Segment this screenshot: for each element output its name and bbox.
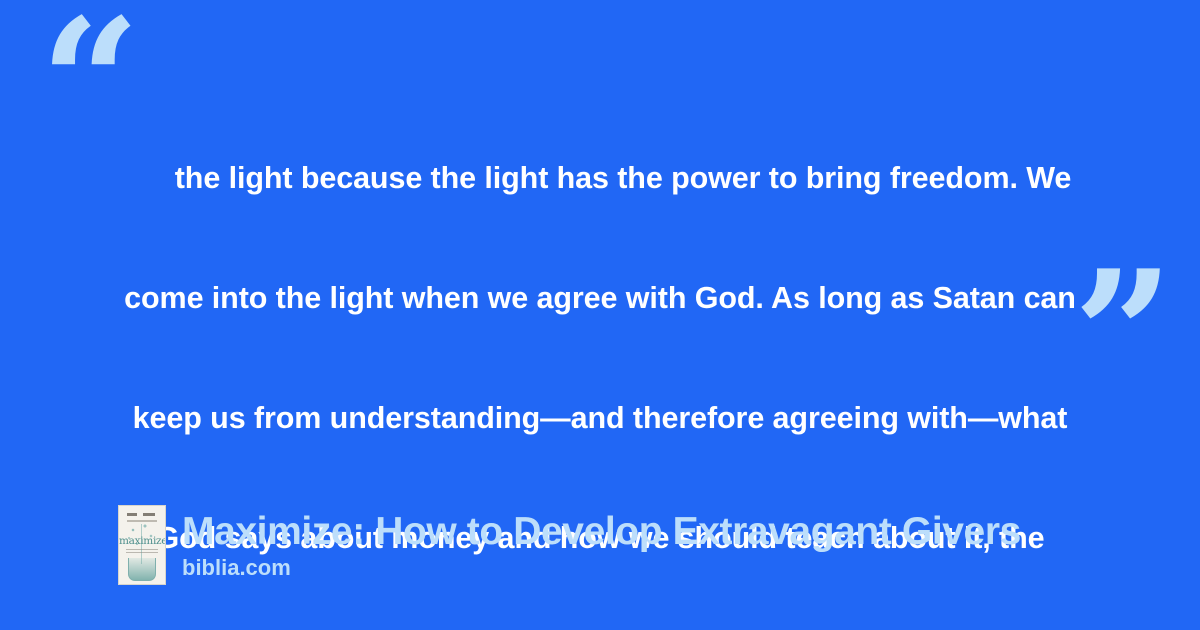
cover-author-line — [125, 513, 159, 516]
attribution-footer: maximize Maximize: How to Develop Extrav… — [118, 505, 1021, 585]
quote-card: “ the light because the light has the po… — [0, 0, 1200, 630]
cover-subtitle-rule — [127, 520, 157, 522]
site-name: biblia.com — [182, 555, 1021, 581]
cover-tagline-lines — [126, 549, 158, 555]
quote-line: keep us from understanding—and therefore… — [96, 398, 1104, 438]
book-cover-thumbnail: maximize — [118, 505, 166, 585]
cover-title-text: maximize — [119, 536, 165, 547]
footer-text-block: Maximize: How to Develop Extravagant Giv… — [182, 510, 1021, 581]
quote-line: the light because the light has the powe… — [96, 158, 1104, 198]
quote-line: come into the light when we agree with G… — [96, 278, 1104, 318]
book-title: Maximize: How to Develop Extravagant Giv… — [182, 510, 1021, 554]
closing-quote-icon: ” — [1073, 248, 1174, 423]
cover-glass-icon — [128, 558, 156, 581]
